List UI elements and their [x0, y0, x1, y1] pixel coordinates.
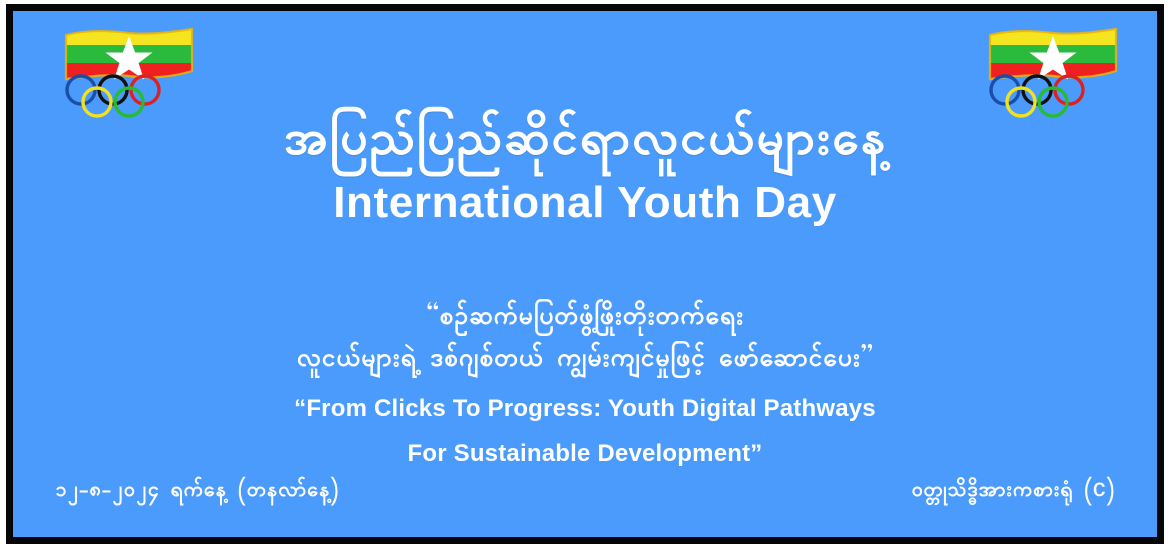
olympic-rings-icon: [55, 73, 203, 119]
footer-date: ၁၂-၈-၂၀၂၄ ရက်နေ့ (တနလာ်နေ့): [55, 478, 339, 505]
olympic-rings-icon: [979, 73, 1127, 119]
emblem-right: [979, 27, 1127, 119]
emblem-left: [55, 27, 203, 119]
theme-english-line-2: For Sustainable Development”: [13, 432, 1157, 476]
headline-block: အပြည်ပြည်ဆိုင်ရာလူငယ်များနေ့ Internation…: [13, 115, 1157, 230]
poster-root: အပြည်ပြည်ဆိုင်ရာလူငယ်များနေ့ Internation…: [0, 0, 1170, 550]
poster-canvas: အပြည်ပြည်ဆိုင်ရာလူငယ်များနေ့ Internation…: [13, 11, 1157, 537]
footer-venue: ဝတ္တုသိဒ္ဓိအားကစားရုံ (C): [911, 478, 1115, 505]
footer: ၁၂-၈-၂၀၂၄ ရက်နေ့ (တနလာ်နေ့) ဝတ္တုသိဒ္ဓိအ…: [55, 478, 1115, 505]
theme-burmese-line-1: “စဉ်ဆက်မပြတ်ဖွံ့ဖြိုးတိုးတက်ရေး: [13, 297, 1157, 339]
theme-english-line-1: “From Clicks To Progress: Youth Digital …: [13, 387, 1157, 431]
theme-burmese-line-2: လူငယ်များရဲ့ ဒစ်ဂျစ်တယ် ကျွမ်းကျင်မှုဖြင…: [13, 339, 1157, 381]
poster-frame: အပြည်ပြည်ဆိုင်ရာလူငယ်များနေ့ Internation…: [6, 4, 1164, 544]
title-english: International Youth Day: [13, 177, 1157, 230]
theme-block: “စဉ်ဆက်မပြတ်ဖွံ့ဖြိုးတိုးတက်ရေး လူငယ်မျာ…: [13, 297, 1157, 476]
title-burmese: အပြည်ပြည်ဆိုင်ရာလူငယ်များနေ့: [13, 115, 1157, 171]
